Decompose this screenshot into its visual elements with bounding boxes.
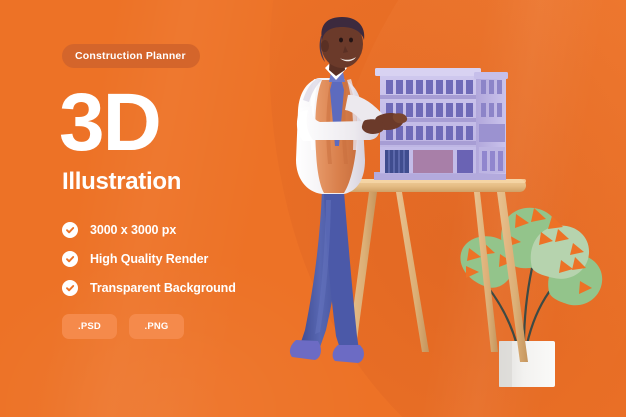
list-item: Transparent Background <box>62 280 327 296</box>
feature-label: High Quality Render <box>90 252 208 266</box>
list-item: High Quality Render <box>62 251 327 267</box>
shoe-left <box>290 340 321 360</box>
text-content-column: Construction Planner 3D Illustration 300… <box>62 44 327 339</box>
format-tag-png: .PNG <box>129 314 184 339</box>
category-badge: Construction Planner <box>62 44 200 68</box>
feature-list: 3000 x 3000 px High Quality Render Trans… <box>62 222 327 296</box>
feature-label: Transparent Background <box>90 281 236 295</box>
feature-label: 3000 x 3000 px <box>90 223 176 237</box>
building-windows <box>386 80 473 140</box>
page-title: 3D <box>59 85 327 160</box>
list-item: 3000 x 3000 px <box>62 222 327 238</box>
shoe-right <box>333 345 364 363</box>
check-circle-icon <box>62 280 78 296</box>
check-circle-icon <box>62 251 78 267</box>
page-subtitle: Illustration <box>62 168 327 196</box>
check-circle-icon <box>62 222 78 238</box>
poster-canvas: Construction Planner 3D Illustration 300… <box>0 0 626 417</box>
file-format-tags: .PSD .PNG <box>62 314 327 339</box>
format-tag-psd: .PSD <box>62 314 117 339</box>
